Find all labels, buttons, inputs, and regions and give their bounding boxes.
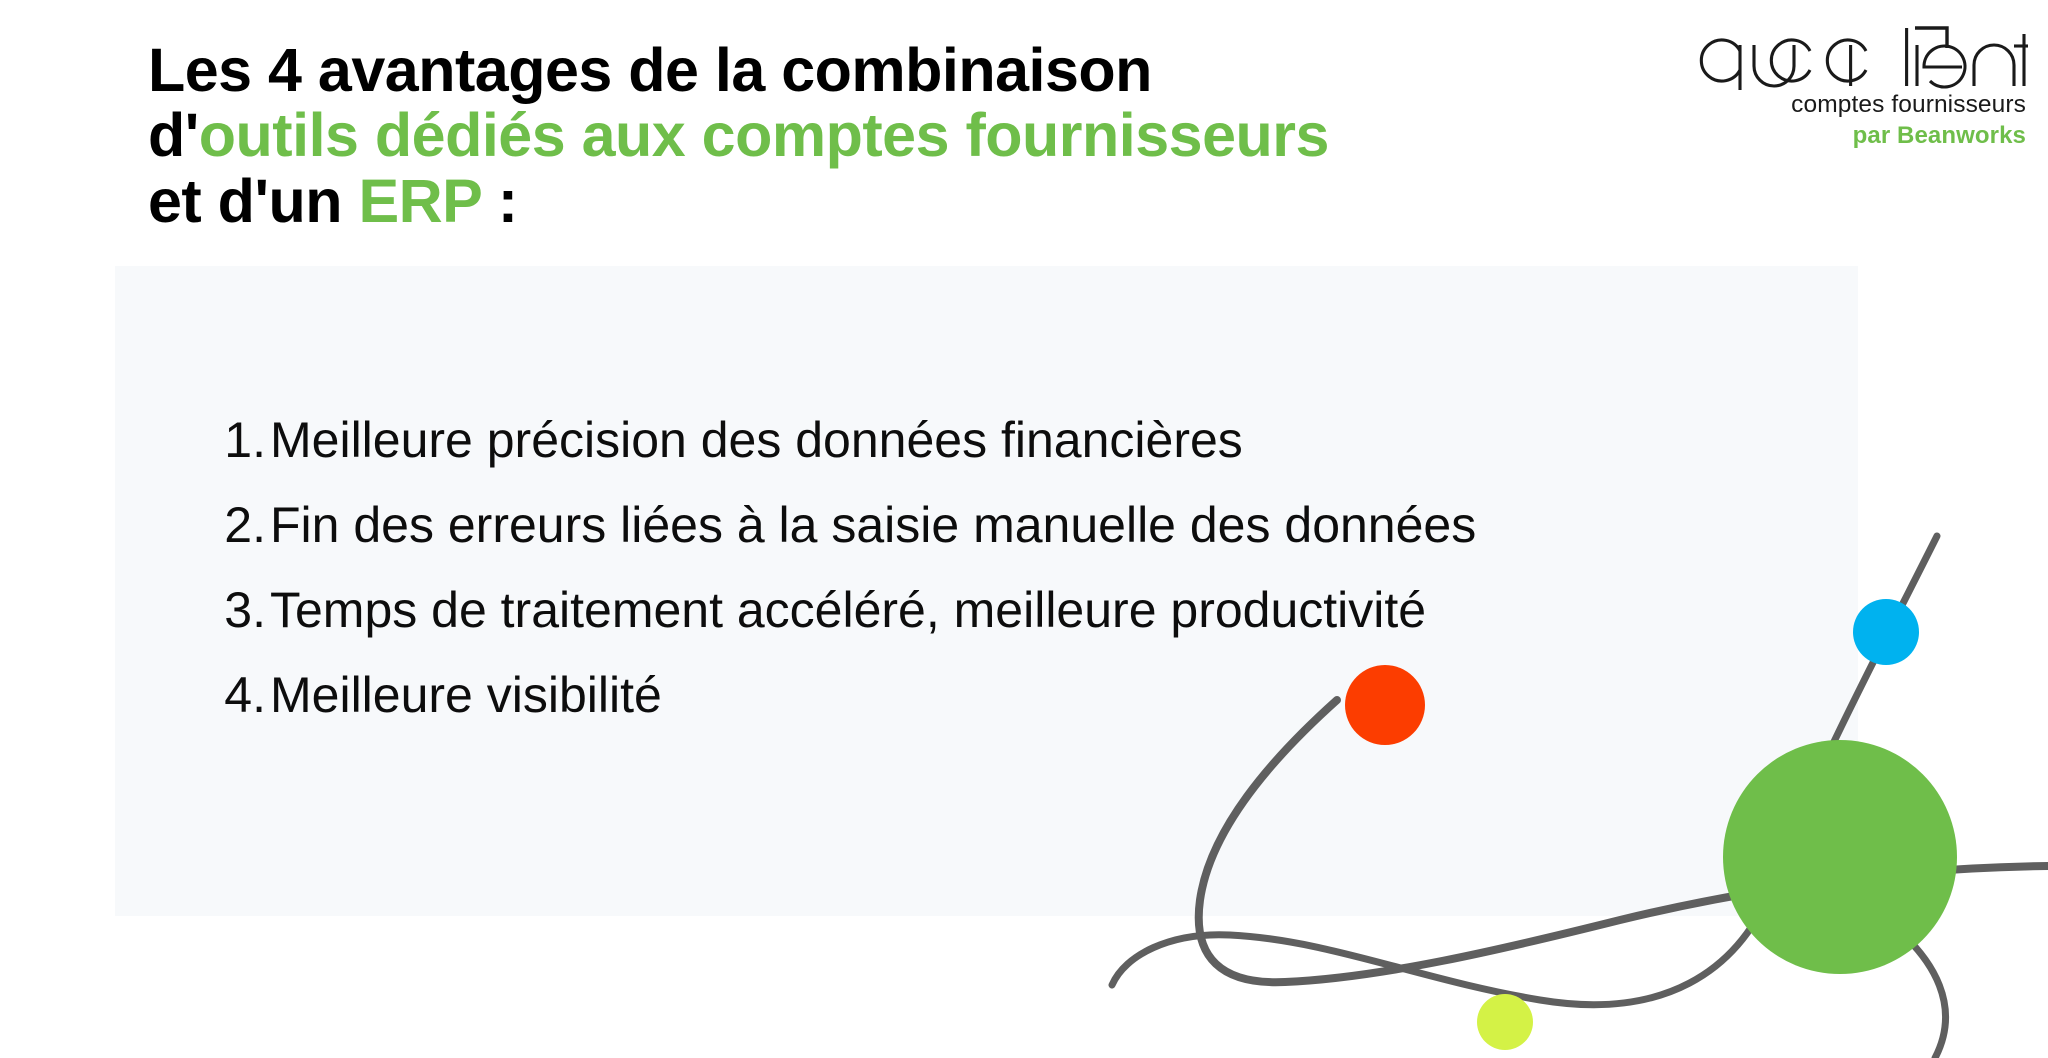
title-line-3: et d'un ERP : [148, 169, 1648, 234]
decorative-circle-lime [1477, 994, 1533, 1050]
title-line-3-prefix: et d'un [148, 167, 358, 235]
list-item-label: Meilleure visibilité [266, 666, 662, 724]
list-item-label: Temps de traitement accéléré, meilleure … [266, 581, 1426, 639]
list-item-number: 3. [208, 581, 266, 639]
logo-partner-label: par Beanworks [1698, 124, 2026, 148]
benefits-list: 1. Meilleure précision des données finan… [168, 411, 1476, 751]
list-item: 1. Meilleure précision des données finan… [208, 411, 1476, 496]
decorative-curve-tail [1880, 915, 1946, 1058]
list-item: 3. Temps de traitement accéléré, meilleu… [208, 581, 1476, 666]
list-item: 4. Meilleure visibilité [208, 666, 1476, 751]
list-item: 2. Fin des erreurs liées à la saisie man… [208, 496, 1476, 581]
quadient-logo: comptes fournisseurs par Beanworks [1698, 24, 2028, 148]
logo-tagline: comptes fournisseurs [1698, 93, 2026, 118]
list-item-number: 4. [208, 666, 266, 724]
decorative-circle-blue [1853, 599, 1919, 665]
list-item-number: 1. [208, 411, 266, 469]
list-item-label: Fin des erreurs liées à la saisie manuel… [266, 496, 1476, 554]
title-line-2-prefix: d' [148, 101, 199, 169]
title-line-2: d'outils dédiés aux comptes fournisseurs [148, 103, 1648, 168]
title-line-3-tail: : [481, 167, 517, 235]
title-line-2-highlight: outils dédiés aux comptes fournisseurs [199, 101, 1329, 169]
list-item-label: Meilleure précision des données financiè… [266, 411, 1243, 469]
list-item-number: 2. [208, 496, 266, 554]
slide-canvas: Les 4 avantages de la combinaison d'outi… [0, 0, 2048, 1058]
page-title: Les 4 avantages de la combinaison d'outi… [148, 38, 1648, 234]
title-line-3-highlight: ERP [358, 167, 481, 235]
quadient-wordmark-icon [1698, 24, 2028, 90]
title-line-1: Les 4 avantages de la combinaison [148, 38, 1648, 103]
